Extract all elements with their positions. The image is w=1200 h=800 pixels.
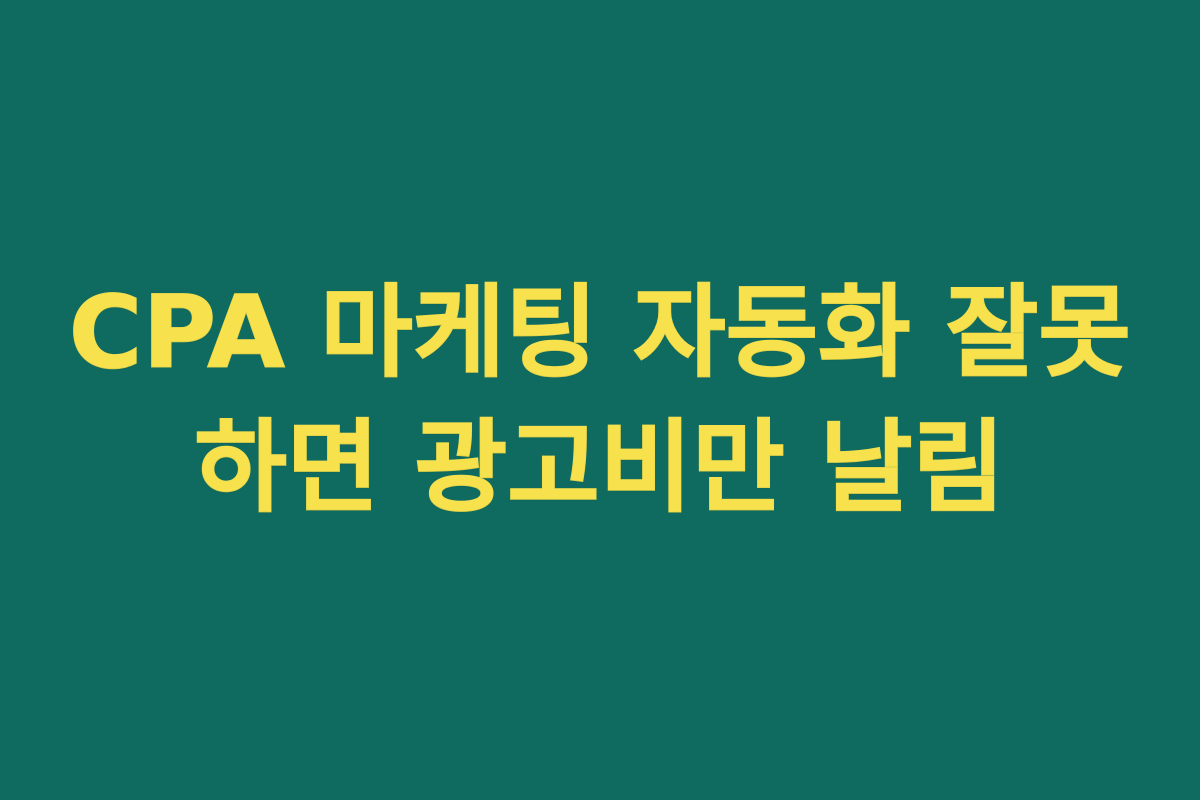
title-line-1: CPA 마케팅 자동화 잘못 [30, 265, 1170, 400]
poster-canvas: CPA 마케팅 자동화 잘못 하면 광고비만 날림 [0, 0, 1200, 800]
title-block: CPA 마케팅 자동화 잘못 하면 광고비만 날림 [30, 265, 1170, 535]
title-line-2: 하면 광고비만 날림 [30, 400, 1170, 535]
